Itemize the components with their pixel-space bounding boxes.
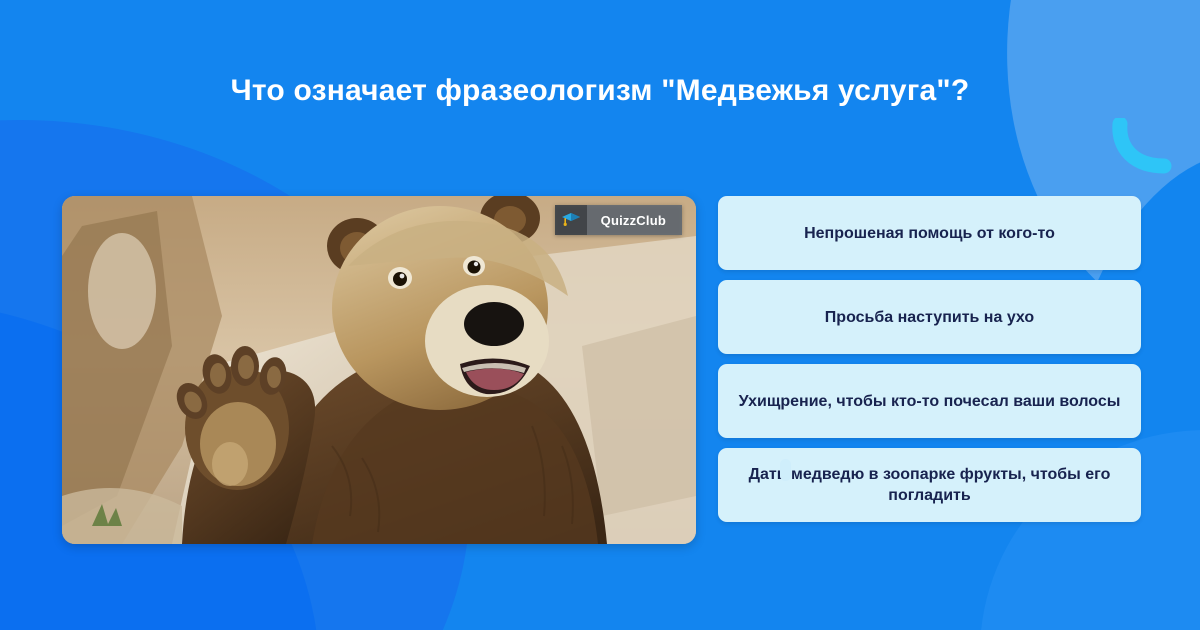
quiz-card-image: Что означает фразеологизм "Медвежья услу… bbox=[0, 0, 1200, 630]
graduation-cap-icon bbox=[555, 205, 587, 235]
bear-photo: QuizzClub bbox=[62, 196, 696, 544]
answer-connector-dot bbox=[780, 459, 791, 481]
answer-option-b-label: Просьба наступить на ухо bbox=[825, 307, 1034, 328]
watermark-brand: QuizzClub bbox=[587, 205, 682, 235]
answer-options-list: Непрошеная помощь от кого-то Просьба нас… bbox=[718, 196, 1141, 532]
answer-option-c[interactable]: Ухищрение, чтобы кто-то почесал ваши вол… bbox=[718, 364, 1141, 438]
answer-option-a[interactable]: Непрошеная помощь от кого-то bbox=[718, 196, 1141, 270]
page-title: Что означает фразеологизм "Медвежья услу… bbox=[0, 74, 1200, 108]
watermark-badge: QuizzClub bbox=[555, 205, 682, 235]
answer-option-d-label: Дать медведю в зоопарке фрукты, чтобы ег… bbox=[734, 464, 1125, 506]
answer-option-c-label: Ухищрение, чтобы кто-то почесал ваши вол… bbox=[739, 391, 1121, 412]
answer-option-a-label: Непрошеная помощь от кого-то bbox=[804, 223, 1055, 244]
swoosh-arc-icon bbox=[1112, 118, 1176, 176]
answer-option-b[interactable]: Просьба наступить на ухо bbox=[718, 280, 1141, 354]
bear-photo-illustration bbox=[62, 196, 696, 544]
